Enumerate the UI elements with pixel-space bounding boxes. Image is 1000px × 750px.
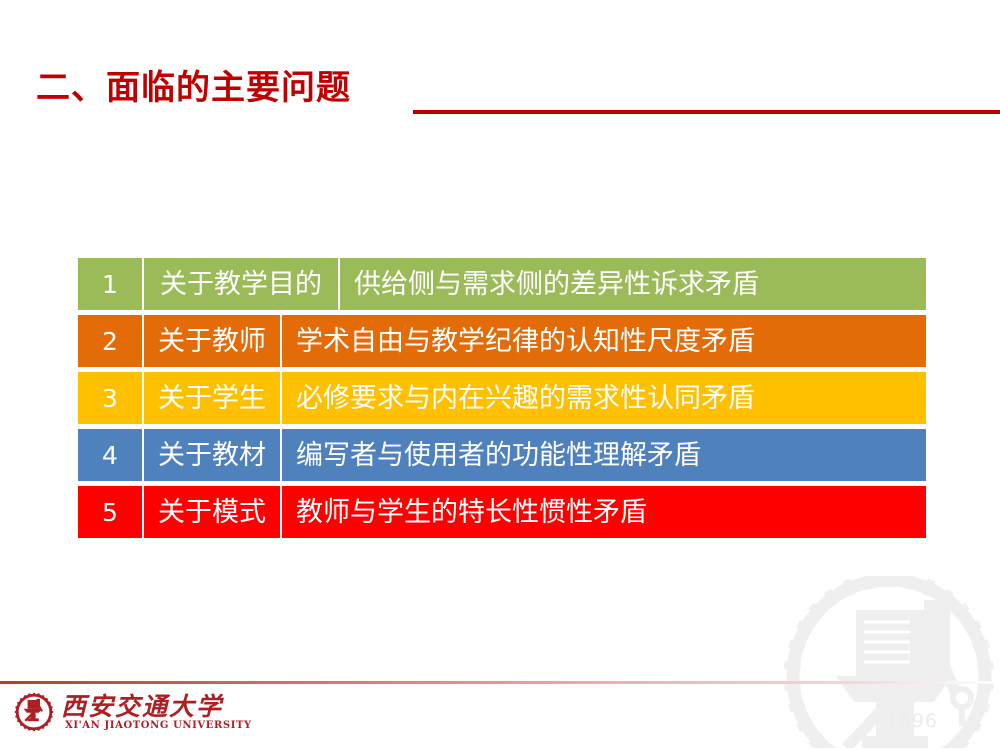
logo-wordmark: 西安交通大学 XI'AN JIAOTONG UNIVERSITY [61,693,252,732]
xjtu-seal-watermark-icon [784,576,994,748]
row-description: 供给侧与需求侧的差异性诉求矛盾 [338,258,926,310]
row-index: 2 [78,315,142,367]
row-topic: 关于教材 [142,429,280,481]
table-row[interactable]: 1 关于教学目的 供给侧与需求侧的差异性诉求矛盾 [78,258,926,310]
page-title: 二、面临的主要问题 [36,66,351,110]
slide-canvas: 二、面临的主要问题 [0,0,1000,750]
row-index: 5 [78,486,142,538]
row-topic: 关于教师 [142,315,280,367]
table-row[interactable]: 4 关于教材 编写者与使用者的功能性理解矛盾 [78,429,926,481]
title-underline-rule [413,110,1000,114]
table-row[interactable]: 2 关于教师 学术自由与教学纪律的认知性尺度矛盾 [78,315,926,367]
university-logo: 西安交通大学 XI'AN JIAOTONG UNIVERSITY [14,692,252,732]
row-description: 学术自由与教学纪律的认知性尺度矛盾 [280,315,926,367]
problems-table: 1 关于教学目的 供给侧与需求侧的差异性诉求矛盾 2 关于教师 学术自由与教学纪… [78,258,926,538]
row-topic: 关于学生 [142,372,280,424]
row-topic: 关于教学目的 [142,258,338,310]
table-row[interactable]: 3 关于学生 必修要求与内在兴趣的需求性认同矛盾 [78,372,926,424]
row-description: 必修要求与内在兴趣的需求性认同矛盾 [280,372,926,424]
row-index: 4 [78,429,142,481]
row-index: 1 [78,258,142,310]
xjtu-seal-icon [14,692,54,732]
row-topic: 关于模式 [142,486,280,538]
table-row[interactable]: 5 关于模式 教师与学生的特长性惯性矛盾 [78,486,926,538]
row-description: 教师与学生的特长性惯性矛盾 [280,486,926,538]
row-index: 3 [78,372,142,424]
watermark-year-label: 1896 [886,710,938,732]
slide-title-block: 二、面临的主要问题 [0,66,1000,126]
logo-english-name: XI'AN JIAOTONG UNIVERSITY [65,720,252,732]
footer-divider [0,681,1000,684]
row-description: 编写者与使用者的功能性理解矛盾 [280,429,926,481]
logo-chinese-name: 西安交通大学 [61,693,252,720]
